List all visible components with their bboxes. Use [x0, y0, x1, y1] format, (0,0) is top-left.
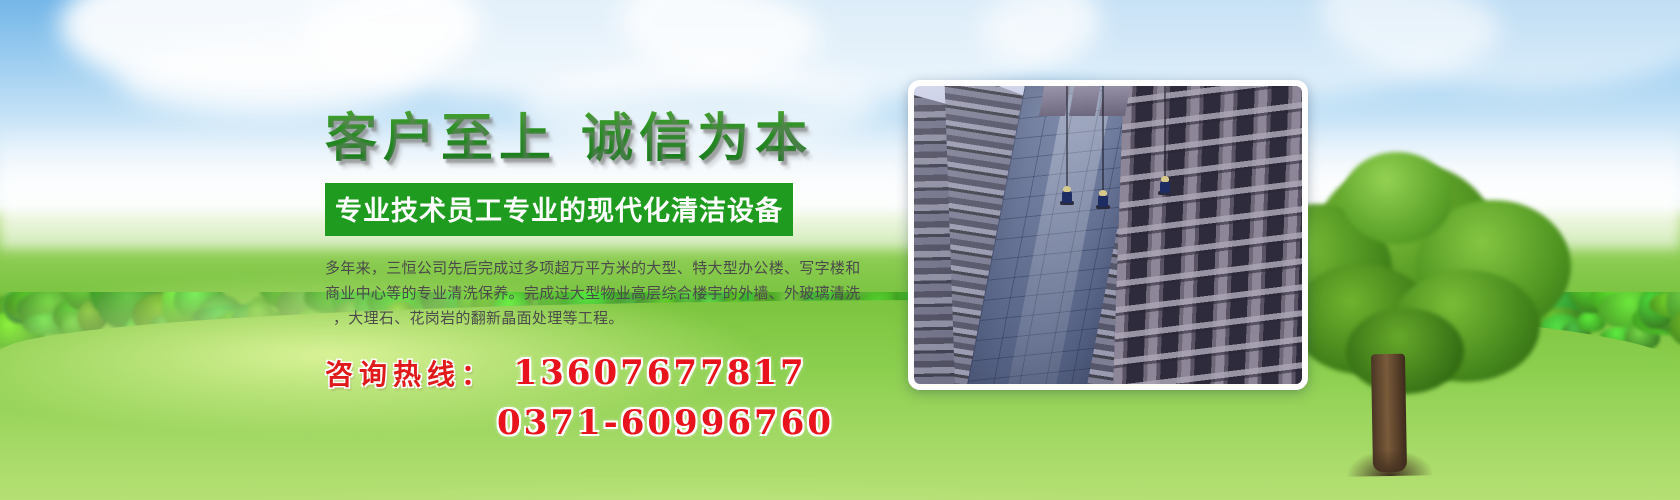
hotline-label: 咨询热线：: [325, 358, 495, 391]
hotline-phone-secondary[interactable]: 0371-60996760: [325, 403, 905, 443]
hotline-row: 咨询热线： 13607677817: [325, 353, 905, 393]
banner-text-column: 客户至上 诚信为本 专业技术员工专业的现代化清洁设备 多年来，三恒公司先后完成过…: [325, 96, 905, 443]
banner-headline: 客户至上 诚信为本: [325, 96, 905, 171]
tree-trunk: [1371, 354, 1407, 473]
worker-figure: [1060, 186, 1074, 208]
hotline-phone-primary[interactable]: 13607677817: [513, 353, 806, 393]
description-line: 多年来，三恒公司先后完成过多项超万平方米的大型、特大型办公楼、写字楼和: [325, 256, 903, 281]
building-floor-bands: [1112, 86, 1302, 384]
worker-figure: [1158, 176, 1172, 198]
description-line: 商业中心等的专业清洗保养。完成过大型物业高层综合楼宇的外墙、外玻璃清洗: [325, 281, 903, 306]
banner-description: 多年来，三恒公司先后完成过多项超万平方米的大型、特大型办公楼、写字楼和 商业中心…: [325, 256, 903, 331]
building-photo-card[interactable]: [908, 80, 1308, 390]
description-line: ，大理石、花岗岩的翻新晶面处理等工程。: [325, 306, 903, 331]
building-photo: [914, 86, 1302, 384]
banner-subtitle-text: 专业技术员工专业的现代化清洁设备: [335, 196, 783, 227]
worker-figure: [1096, 190, 1110, 212]
promo-banner: 客户至上 诚信为本 专业技术员工专业的现代化清洁设备 多年来，三恒公司先后完成过…: [0, 0, 1680, 500]
banner-subtitle-bar: 专业技术员工专业的现代化清洁设备: [325, 183, 793, 236]
